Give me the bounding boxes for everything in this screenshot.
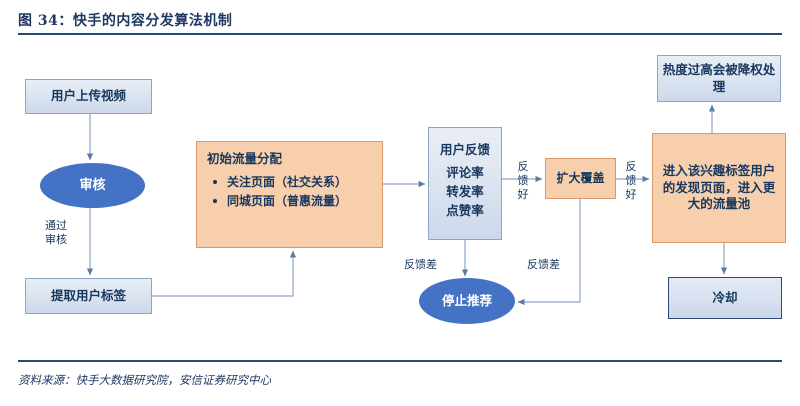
figure-canvas: 图 34：快手的内容分发算法机制 <box>0 0 800 406</box>
metric-share-rate: 转发率 <box>429 184 501 201</box>
list-item: 关注页面（社交关系） <box>223 174 372 190</box>
edge-label-bad-feedback-2: 反馈差 <box>527 258 560 272</box>
source-divider <box>18 360 782 362</box>
edge-expand-stop <box>518 199 580 302</box>
edge-label-good-feedback-2: 反 馈 好 <box>624 160 638 201</box>
metric-comment-rate: 评论率 <box>429 165 501 182</box>
edge-label-bad-feedback-1: 反馈差 <box>404 258 437 272</box>
list-item: 同城页面（普惠流量） <box>223 193 372 209</box>
node-upload-video[interactable]: 用户上传视频 <box>25 79 152 114</box>
initial-allocation-list: 关注页面（社交关系） 同城页面（普惠流量） <box>207 174 372 209</box>
edge-tag-initial <box>152 251 293 296</box>
source-note: 资料来源：快手大数据研究院，安信证券研究中心 <box>18 372 271 388</box>
edge-label-good-feedback-1: 反 馈 好 <box>516 160 530 201</box>
node-extract-user-tag[interactable]: 提取用户标签 <box>25 278 152 314</box>
initial-allocation-title: 初始流量分配 <box>207 151 372 168</box>
node-user-feedback[interactable]: 用户反馈 评论率 转发率 点赞率 <box>428 127 502 240</box>
user-feedback-title: 用户反馈 <box>429 142 501 159</box>
edge-label-pass-review: 通过 审核 <box>45 219 67 247</box>
node-initial-traffic-allocation[interactable]: 初始流量分配 关注页面（社交关系） 同城页面（普惠流量） <box>196 141 383 248</box>
metric-like-rate: 点赞率 <box>429 203 501 220</box>
node-enter-larger-traffic-pool[interactable]: 进入该兴趣标签用户的发现页面，进入更大的流量池 <box>652 133 786 243</box>
node-cooldown[interactable]: 冷却 <box>668 277 782 319</box>
node-expand-coverage[interactable]: 扩大覆盖 <box>545 158 616 199</box>
node-overheated-demotion[interactable]: 热度过高会被降权处理 <box>657 55 781 102</box>
node-review[interactable]: 审核 <box>40 163 145 208</box>
node-stop-recommendation[interactable]: 停止推荐 <box>419 278 515 324</box>
